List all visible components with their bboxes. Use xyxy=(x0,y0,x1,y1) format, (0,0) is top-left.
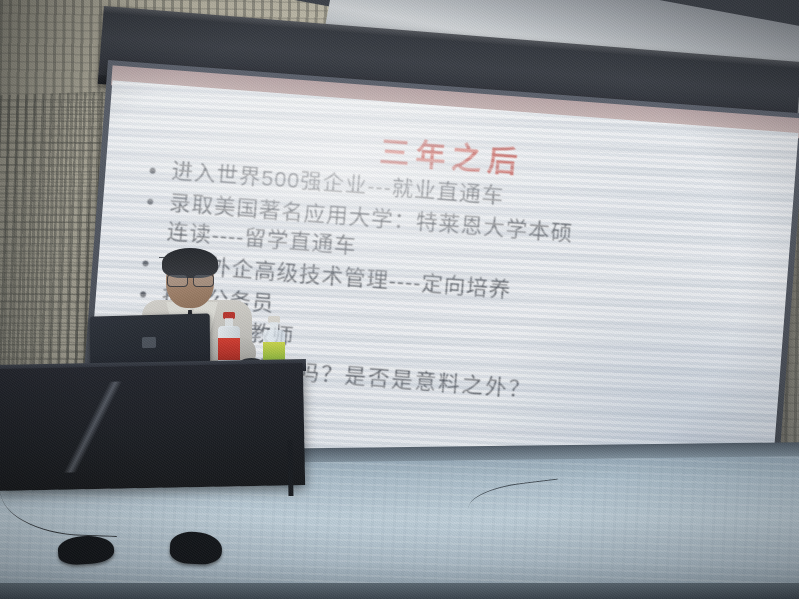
bottle-label xyxy=(218,338,240,360)
floor-foreground-band xyxy=(0,583,799,599)
bullet-dot-icon xyxy=(149,167,155,173)
glasses-bridge xyxy=(159,257,168,258)
glasses-icon xyxy=(167,274,214,285)
desk-leg xyxy=(288,440,294,496)
laptop-lid-logo xyxy=(142,337,156,348)
desk-highlight-streak xyxy=(9,380,181,473)
photo-scene: 三年之后 进入世界500强企业---就业直通车 录取美国著名应用大学：特莱恩大学… xyxy=(0,0,799,599)
bullet-dot-icon xyxy=(147,199,153,205)
